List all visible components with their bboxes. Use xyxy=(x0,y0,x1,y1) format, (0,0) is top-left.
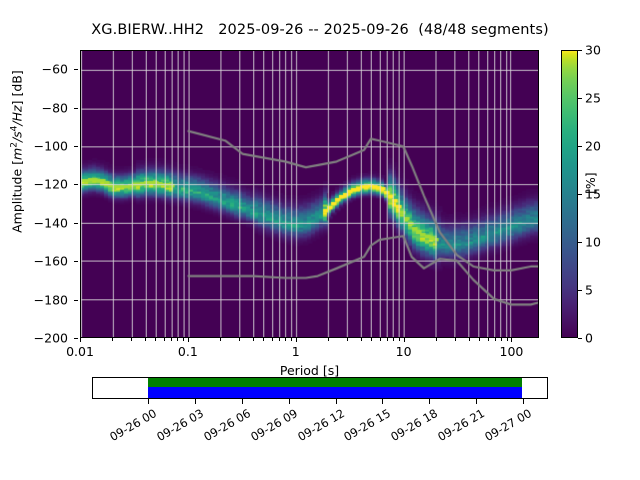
x-tick-label: 100 xyxy=(500,344,524,359)
data-coverage-bar xyxy=(148,378,522,387)
timeline-tick-mark xyxy=(429,399,430,404)
x-minor-tick xyxy=(387,338,388,341)
x-minor-tick xyxy=(380,338,381,341)
y-tick-label: −80 xyxy=(42,100,68,115)
x-minor-tick xyxy=(507,338,508,341)
colorbar-tick-label: 10 xyxy=(585,235,601,250)
x-major-tick xyxy=(404,338,405,342)
timeline-tick-mark xyxy=(523,399,524,404)
x-axis-title: Period [s] xyxy=(80,363,539,378)
y-tick-label: −120 xyxy=(34,177,68,192)
y-tick-label: −160 xyxy=(34,254,68,269)
y-tick-label: −200 xyxy=(34,331,68,346)
y-tick-mark xyxy=(74,69,78,70)
x-minor-tick xyxy=(495,338,496,341)
x-tick-label: 10 xyxy=(396,344,412,359)
colorbar-tick-label: 20 xyxy=(585,139,601,154)
x-minor-tick xyxy=(155,338,156,341)
y-tick-mark xyxy=(74,108,78,109)
x-major-tick xyxy=(511,338,512,342)
x-minor-tick xyxy=(501,338,502,341)
x-minor-tick xyxy=(347,338,348,341)
x-minor-tick xyxy=(479,338,480,341)
ppsd-plot-area[interactable] xyxy=(80,50,539,338)
colorbar-tick-label: 30 xyxy=(585,43,601,58)
x-minor-tick xyxy=(145,338,146,341)
x-minor-tick xyxy=(112,338,113,341)
timeline-tick-mark xyxy=(382,399,383,404)
x-minor-tick xyxy=(436,338,437,341)
x-major-tick xyxy=(80,338,81,342)
timeline-tick-mark xyxy=(476,399,477,404)
timeline-tick-mark xyxy=(148,399,149,404)
noise-model-curves xyxy=(81,51,538,337)
x-minor-tick xyxy=(328,338,329,341)
x-minor-tick xyxy=(371,338,372,341)
x-minor-tick xyxy=(361,338,362,341)
colorbar-tick-label: 25 xyxy=(585,91,601,106)
y-tick-label: −180 xyxy=(34,292,68,307)
timeline-tick-mark xyxy=(289,399,290,404)
x-minor-tick xyxy=(393,338,394,341)
x-minor-tick xyxy=(171,338,172,341)
timeline-tick-mark xyxy=(195,399,196,404)
y-tick-mark xyxy=(74,338,78,339)
x-minor-tick xyxy=(263,338,264,341)
y-axis-labels: −60−80−100−120−140−160−180−200 xyxy=(0,50,74,338)
x-major-tick xyxy=(296,338,297,342)
y-tick-mark xyxy=(74,146,78,147)
colorbar-tick-mark xyxy=(578,146,582,147)
timeline-coverage-box[interactable] xyxy=(92,377,548,399)
x-minor-tick xyxy=(279,338,280,341)
y-tick-mark xyxy=(74,223,78,224)
y-tick-label: −100 xyxy=(34,139,68,154)
colorbar-title: [%] xyxy=(583,154,598,194)
x-tick-label: 1 xyxy=(292,344,300,359)
x-minor-tick xyxy=(220,338,221,341)
x-tick-label: 0.1 xyxy=(178,344,198,359)
x-minor-tick xyxy=(164,338,165,341)
psd-segments-bar xyxy=(148,387,522,398)
colorbar-tick-mark xyxy=(578,50,582,51)
colorbar xyxy=(561,50,578,338)
colorbar-tick-mark xyxy=(578,194,582,195)
x-minor-tick xyxy=(253,338,254,341)
colorbar-tick-mark xyxy=(578,290,582,291)
x-minor-tick xyxy=(272,338,273,341)
x-tick-label: 0.01 xyxy=(66,344,94,359)
timeline-tick-mark xyxy=(336,399,337,404)
y-tick-label: −140 xyxy=(34,215,68,230)
x-minor-tick xyxy=(291,338,292,341)
x-minor-tick xyxy=(131,338,132,341)
colorbar-tick-label: 5 xyxy=(585,283,593,298)
x-minor-tick xyxy=(455,338,456,341)
colorbar-tick-label: 0 xyxy=(585,331,593,346)
x-minor-tick xyxy=(488,338,489,341)
x-minor-tick xyxy=(183,338,184,341)
page-title: XG.BIERW..HH2 2025-09-26 -- 2025-09-26 (… xyxy=(0,22,640,38)
x-minor-tick xyxy=(177,338,178,341)
colorbar-tick-mark xyxy=(578,338,582,339)
y-tick-label: −60 xyxy=(42,62,68,77)
y-tick-mark xyxy=(74,300,78,301)
colorbar-tick-mark xyxy=(578,98,582,99)
y-tick-mark xyxy=(74,184,78,185)
x-minor-tick xyxy=(469,338,470,341)
x-major-tick xyxy=(188,338,189,342)
x-minor-tick xyxy=(285,338,286,341)
timeline-tick-mark xyxy=(242,399,243,404)
y-tick-mark xyxy=(74,261,78,262)
colorbar-tick-mark xyxy=(578,242,582,243)
x-minor-tick xyxy=(239,338,240,341)
x-minor-tick xyxy=(399,338,400,341)
